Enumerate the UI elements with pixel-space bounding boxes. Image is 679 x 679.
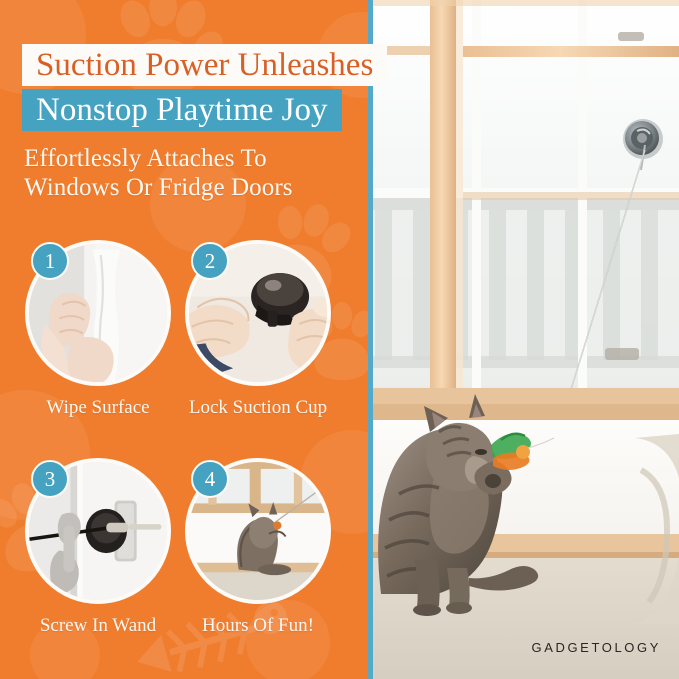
cat-with-window-toy-scene bbox=[373, 0, 679, 679]
step-4-circle: 4 bbox=[185, 458, 331, 604]
product-infographic: 1 Wipe Surface bbox=[0, 0, 679, 679]
brand-logo: GADGETOLOGY bbox=[532, 640, 662, 655]
step-2-number: 2 bbox=[205, 251, 216, 272]
step-item-1[interactable]: 1 Wipe Surface bbox=[18, 240, 178, 419]
step-1-circle: 1 bbox=[25, 240, 171, 386]
step-item-2[interactable]: 2 Lock Suction Cup bbox=[178, 240, 338, 419]
step-1-number: 1 bbox=[45, 251, 56, 272]
step-4-number-badge: 4 bbox=[191, 460, 229, 498]
step-item-4[interactable]: 4 Hours Of Fun! bbox=[178, 458, 338, 637]
subheadline: Effortlessly Attaches To Windows Or Frid… bbox=[24, 144, 293, 202]
vertical-divider bbox=[368, 0, 373, 679]
step-3-label: Screw In Wand bbox=[18, 615, 178, 637]
step-1-number-badge: 1 bbox=[31, 242, 69, 280]
step-2-label: Lock Suction Cup bbox=[178, 397, 338, 419]
headline-line-1: Suction Power Unleashes bbox=[36, 49, 373, 82]
step-4-label: Hours Of Fun! bbox=[178, 615, 338, 637]
step-3-number-badge: 3 bbox=[31, 460, 69, 498]
headline-line-2: Nonstop Playtime Joy bbox=[36, 94, 328, 127]
step-2-circle: 2 bbox=[185, 240, 331, 386]
headline-band-primary: Suction Power Unleashes bbox=[22, 44, 387, 86]
step-3-circle: 3 bbox=[25, 458, 171, 604]
step-1-label: Wipe Surface bbox=[18, 397, 178, 419]
step-4-number: 4 bbox=[205, 469, 216, 490]
step-item-3[interactable]: 3 Screw In Wand bbox=[18, 458, 178, 637]
hero-product-photo: GADGETOLOGY bbox=[373, 0, 679, 679]
step-2-number-badge: 2 bbox=[191, 242, 229, 280]
step-3-number: 3 bbox=[45, 469, 56, 490]
headline-band-secondary: Nonstop Playtime Joy bbox=[22, 89, 342, 131]
